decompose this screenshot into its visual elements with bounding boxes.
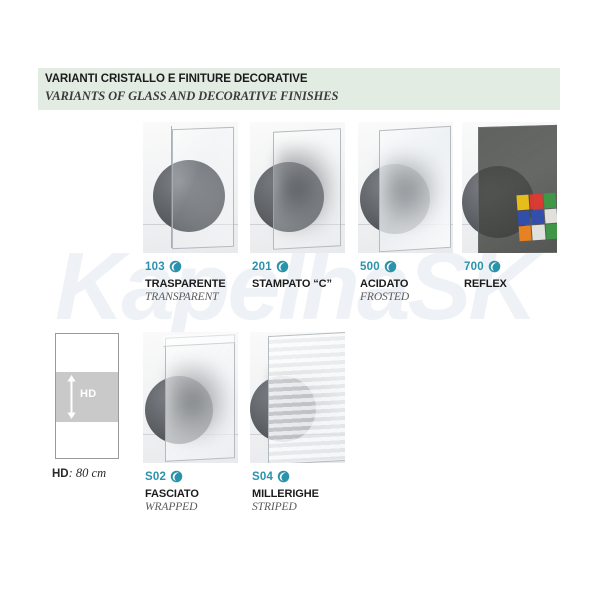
hd-caption: HD: 80 cm	[52, 466, 106, 481]
swatch-name-en: STRIPED	[252, 501, 382, 513]
swatch-name-it: REFLEX	[464, 278, 594, 290]
swatch-photo-acidato	[358, 122, 453, 253]
hd-inner-label: HD	[80, 388, 97, 400]
page-title: VARIANTI CRISTALLO E FINITURE DECORATIVE	[45, 73, 307, 85]
swatch-photo-transparent	[143, 122, 238, 253]
glass-finish-icon	[488, 260, 501, 273]
glass-finish-icon	[276, 260, 289, 273]
hd-caption-term: HD	[52, 468, 69, 480]
swatch-code: 103	[145, 261, 165, 273]
section-header-band: VARIANTI CRISTALLO E FINITURE DECORATIVE…	[38, 68, 560, 110]
swatch-code: 700	[464, 261, 484, 273]
swatch-name-it: MILLERIGHE	[252, 488, 382, 500]
hd-double-arrow-icon	[67, 375, 76, 419]
swatch-photo-reflex	[462, 122, 557, 253]
glass-finish-icon	[169, 260, 182, 273]
swatch-code: 201	[252, 261, 272, 273]
swatch-card-700[interactable]: 700 REFLEX	[462, 122, 594, 317]
swatch-code: S04	[252, 471, 273, 483]
glass-finish-icon	[384, 260, 397, 273]
glass-finish-icon	[277, 470, 290, 483]
swatch-card-S04[interactable]: S04 MILLERIGHE STRIPED	[250, 332, 382, 527]
swatch-code: S02	[145, 471, 166, 483]
swatch-photo-stampato-c	[250, 122, 345, 253]
reflected-color-cubes	[516, 193, 557, 242]
hd-diagram: HD	[55, 333, 119, 459]
page-subtitle: VARIANTS OF GLASS AND DECORATIVE FINISHE…	[45, 89, 338, 104]
hd-caption-value: : 80 cm	[69, 466, 107, 480]
glass-finish-icon	[170, 470, 183, 483]
swatch-photo-millerighe	[250, 332, 345, 463]
swatch-code: 500	[360, 261, 380, 273]
swatch-photo-fasciato	[143, 332, 238, 463]
